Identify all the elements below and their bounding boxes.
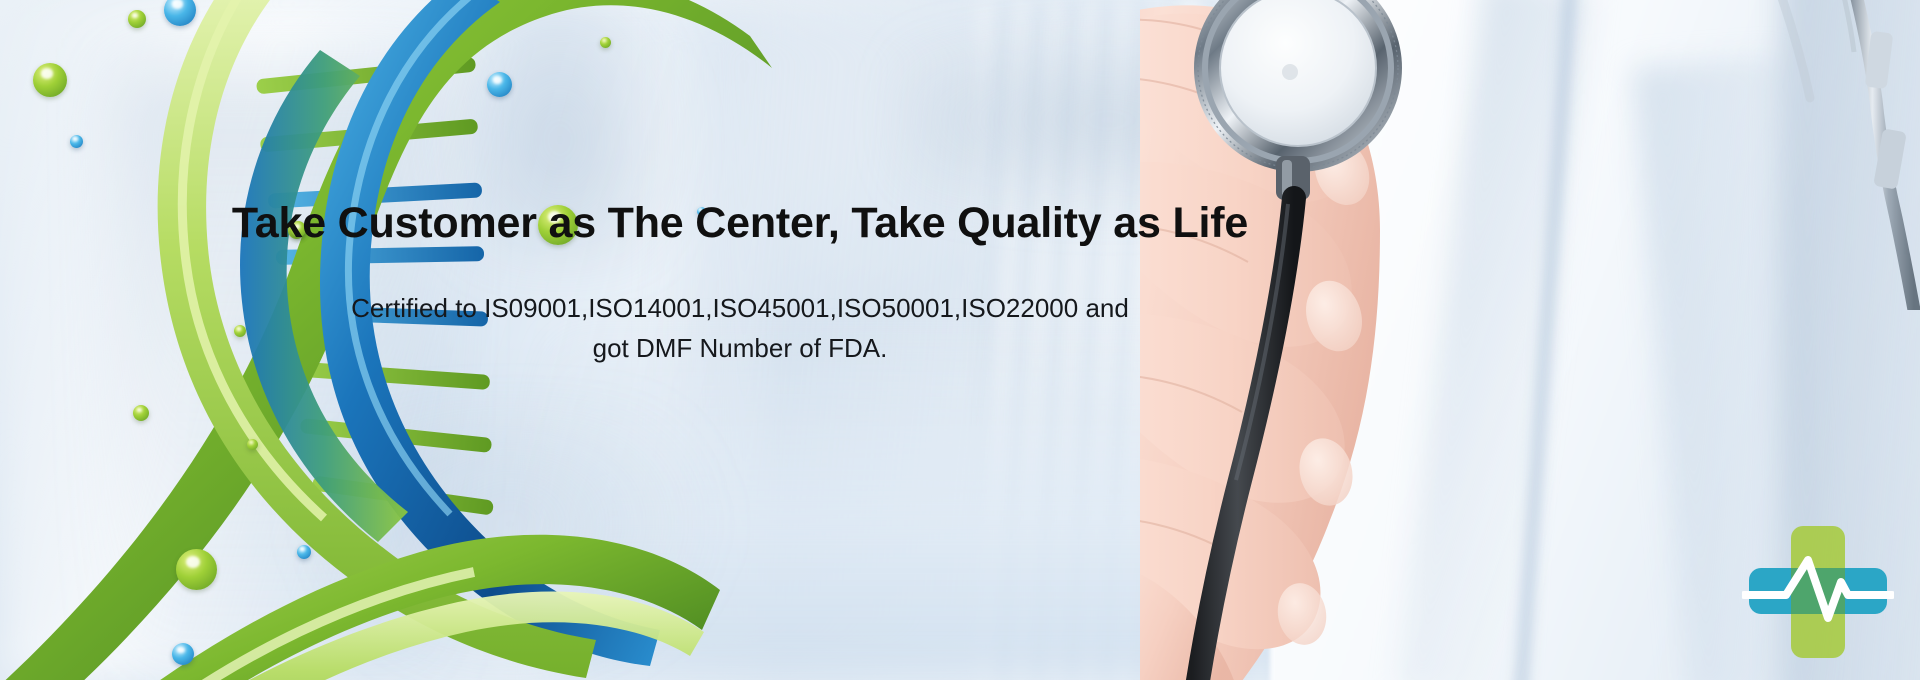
sphere <box>70 135 83 148</box>
sphere <box>33 63 67 97</box>
sphere <box>297 545 311 559</box>
sphere <box>172 643 194 665</box>
sphere <box>133 405 149 421</box>
banner-subtitle: Certified to IS09001,ISO14001,ISO45001,I… <box>0 289 1480 368</box>
neck-stethoscope-icon <box>1700 0 1920 310</box>
banner-subtitle-line-1: Certified to IS09001,ISO14001,ISO45001,I… <box>0 289 1480 329</box>
sphere <box>128 10 146 28</box>
sphere <box>247 439 258 450</box>
medical-cross-logo[interactable] <box>1742 522 1894 662</box>
hero-banner: Take Customer as The Center, Take Qualit… <box>0 0 1920 680</box>
sphere <box>176 549 217 590</box>
sphere <box>487 72 512 97</box>
banner-headline: Take Customer as The Center, Take Qualit… <box>0 200 1480 247</box>
sphere <box>600 37 611 48</box>
banner-subtitle-line-2: got DMF Number of FDA. <box>0 329 1480 369</box>
